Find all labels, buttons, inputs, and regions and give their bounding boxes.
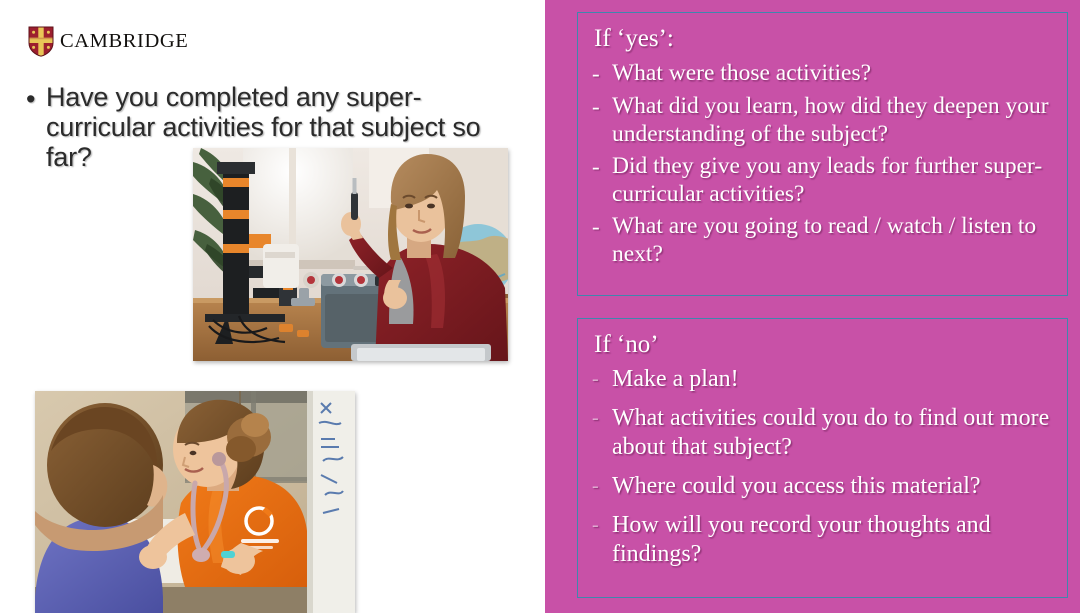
- dash-marker-icon: -: [592, 92, 612, 121]
- list-item: - Did they give you any leads for furthe…: [592, 152, 1053, 208]
- medicine-photo: [35, 391, 355, 613]
- if-no-list: - Make a plan! - What activities could y…: [592, 365, 1053, 569]
- list-item: - Make a plan!: [592, 365, 1053, 394]
- list-item-text: Where could you access this material?: [612, 472, 981, 501]
- if-yes-heading: If ‘yes’:: [592, 23, 1053, 55]
- list-item-text: What are you going to read / watch / lis…: [612, 212, 1053, 268]
- list-item: - Where could you access this material?: [592, 472, 1053, 501]
- if-no-heading: If ‘no’: [592, 329, 1053, 361]
- bullet-marker-icon: •: [26, 82, 46, 116]
- robotics-photo: [193, 148, 508, 361]
- list-item-text: How will you record your thoughts and fi…: [612, 511, 1053, 569]
- dash-marker-icon: -: [592, 152, 612, 181]
- left-content-pane: CAMBRIDGE • Have you completed any super…: [0, 0, 545, 613]
- list-item: - What are you going to read / watch / l…: [592, 212, 1053, 268]
- cambridge-wordmark: CAMBRIDGE: [60, 31, 188, 52]
- cambridge-crest-icon: [28, 26, 54, 57]
- list-item-text: What activities could you do to find out…: [612, 404, 1053, 462]
- list-item-text: Did they give you any leads for further …: [612, 152, 1053, 208]
- list-item: - What were those activities?: [592, 59, 1053, 88]
- dash-marker-icon: -: [592, 212, 612, 241]
- cambridge-logo: CAMBRIDGE: [28, 26, 188, 57]
- if-no-box: If ‘no’ - Make a plan! - What activities…: [577, 318, 1068, 598]
- presentation-slide: CAMBRIDGE • Have you completed any super…: [0, 0, 1080, 613]
- list-item: - What did you learn, how did they deepe…: [592, 92, 1053, 148]
- list-item-text: Make a plan!: [612, 365, 739, 394]
- if-yes-list: - What were those activities? - What did…: [592, 59, 1053, 268]
- dash-marker-icon: -: [592, 472, 612, 501]
- dash-marker-icon: -: [592, 59, 612, 88]
- list-item: - What activities could you do to find o…: [592, 404, 1053, 462]
- dash-marker-icon: -: [592, 511, 612, 540]
- dash-marker-icon: -: [592, 365, 612, 394]
- dash-marker-icon: -: [592, 404, 612, 433]
- if-yes-box: If ‘yes’: - What were those activities? …: [577, 12, 1068, 296]
- list-item: - How will you record your thoughts and …: [592, 511, 1053, 569]
- prompts-panel: If ‘yes’: - What were those activities? …: [545, 0, 1080, 613]
- list-item-text: What were those activities?: [612, 59, 871, 87]
- list-item-text: What did you learn, how did they deepen …: [612, 92, 1053, 148]
